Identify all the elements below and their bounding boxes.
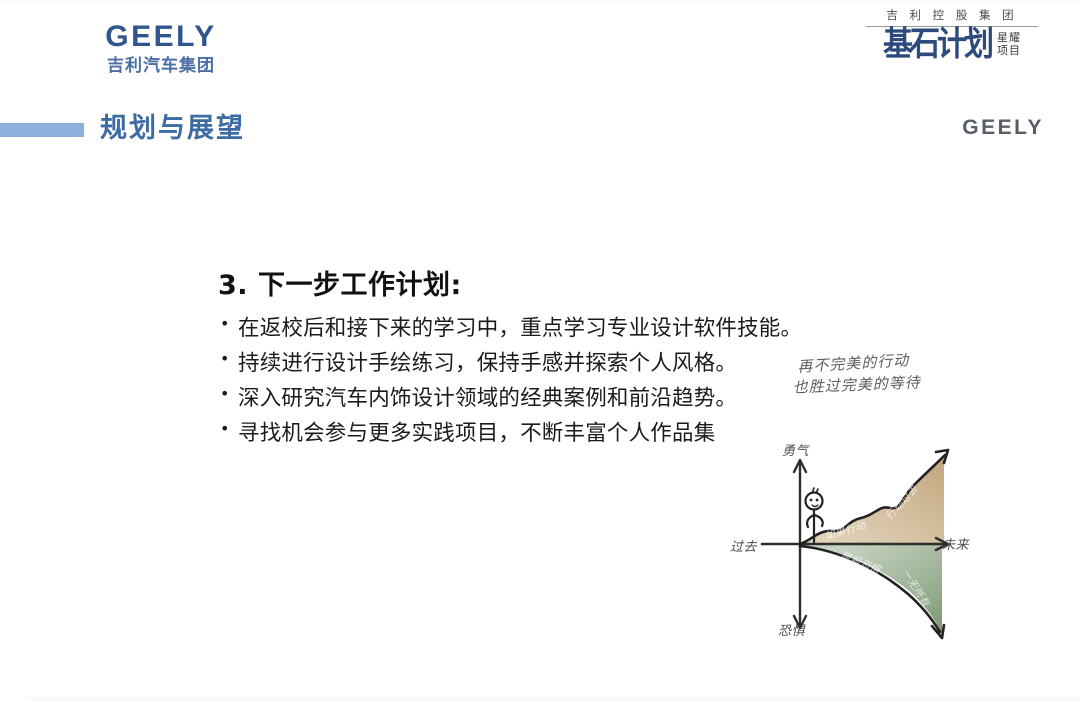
- sketch-downside-area: [800, 545, 942, 634]
- courage-fear-sketch: 勇气 恐惧 过去 未来 如果行动 行动过去 屈服恐惧 一无所有: [728, 438, 984, 646]
- program-emblem-text: 基石计划: [883, 27, 991, 62]
- geely-brand-logo: GEELY 吉利汽车集团: [88, 22, 234, 75]
- title-accent-bar: [0, 123, 84, 137]
- list-item: 在返校后和接下来的学习中，重点学习专业设计软件技能。: [218, 312, 918, 347]
- section-title-band: 规划与展望 GEELY: [0, 104, 1080, 156]
- program-logo: 吉 利 控 股 集 团 基石计划 星耀 项目: [866, 10, 1038, 60]
- slide-canvas: GEELY 吉利汽车集团 吉 利 控 股 集 团 基石计划 星耀 项目 规划与展…: [0, 0, 1080, 701]
- slide-bottom-edge: [26, 695, 1080, 701]
- sketch-axis-label-right: 未来: [942, 534, 969, 553]
- page-title: 规划与展望: [100, 109, 245, 149]
- geely-chinese-name: 吉利汽车集团: [88, 58, 234, 75]
- content-heading: 3. 下一步工作计划:: [218, 268, 918, 303]
- program-subtitle: 星耀 项目: [997, 31, 1021, 59]
- holding-group-name: 吉 利 控 股 集 团: [866, 10, 1038, 26]
- slide-header: GEELY 吉利汽车集团 吉 利 控 股 集 团 基石计划 星耀 项目: [0, 0, 1080, 98]
- header-geely-mark: GEELY: [962, 116, 1044, 140]
- program-subtitle-line2: 项目: [997, 44, 1021, 58]
- program-emblem-row: 基石计划 星耀 项目: [866, 29, 1038, 61]
- geely-wordmark: GEELY: [88, 22, 234, 52]
- sketch-axis-label-down: 恐惧: [778, 620, 805, 639]
- handwritten-motto: 再不完美的行动 也胜过完美的等待: [797, 347, 959, 400]
- sketch-axis-label-left: 过去: [730, 536, 757, 555]
- program-subtitle-line1: 星耀: [997, 31, 1021, 45]
- sketch-axis-label-up: 勇气: [782, 440, 809, 459]
